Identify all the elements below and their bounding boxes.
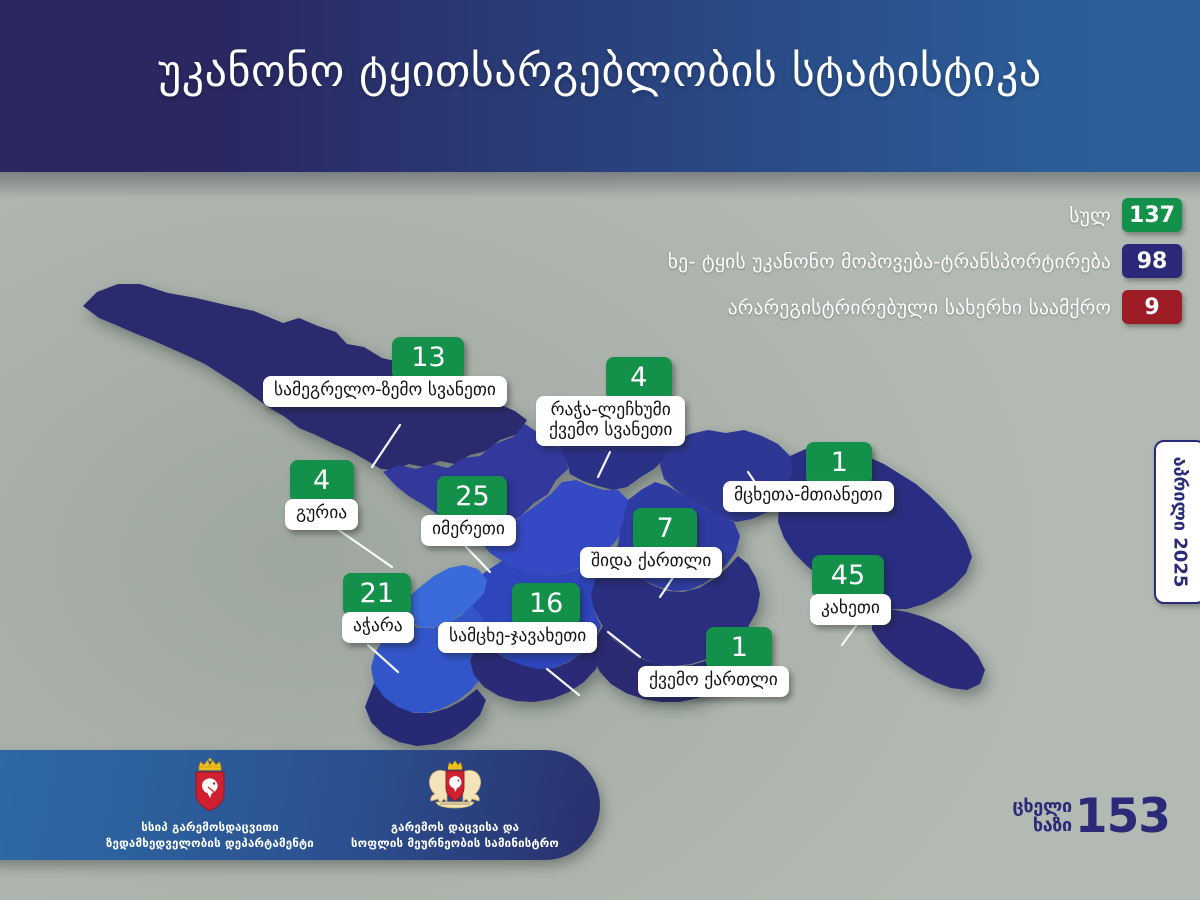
- leader-samegrelo: [372, 425, 400, 467]
- legend-chip-logging: 98: [1122, 244, 1182, 278]
- hotline-words: ცხელი ხაზი: [1012, 798, 1071, 835]
- legend-row-total: სულ 137: [668, 198, 1182, 232]
- callout-guria[interactable]: 4 გურია: [285, 460, 358, 530]
- badge-adjara: 21: [343, 573, 411, 616]
- label-kvemo-kartli: ქვემო ქართლი: [638, 666, 789, 697]
- legend-label-total: სულ: [1069, 204, 1111, 227]
- label-mtskheta: მცხეთა-მთიანეთი: [723, 481, 894, 512]
- department-emblem-icon: [187, 758, 233, 812]
- label-racha-line2: ქვემო სვანეთი: [549, 420, 672, 440]
- hotline: ცხელი ხაზი 153: [1012, 796, 1170, 838]
- callout-shida-kartli[interactable]: 7 შიდა ქართლი: [608, 508, 722, 578]
- badge-samtskhe: 16: [512, 583, 580, 626]
- header-banner: უკანონო ტყითსარგებლობის სტატისტიკა: [0, 0, 1200, 172]
- callout-imereti[interactable]: 25 იმერეთი: [429, 476, 516, 546]
- ministry-coat-of-arms-icon: [424, 758, 486, 812]
- footer-org-2: გარემოს დაცვისა და სოფლის მეურნეობის სამ…: [330, 758, 580, 851]
- badge-mtskheta: 1: [806, 442, 872, 485]
- legend-row-sawmill: არარეგისტრირებული სახერხი საამქრო 9: [668, 290, 1182, 324]
- label-guria: გურია: [285, 499, 358, 530]
- label-shida-kartli: შიდა ქართლი: [580, 547, 722, 578]
- callout-kakheti[interactable]: 45 კახეთი: [805, 555, 891, 625]
- badge-kvemo-kartli: 1: [706, 627, 772, 670]
- hotline-line-2: ხაზი: [1012, 817, 1071, 835]
- leader-kvemo-kartli: [608, 632, 640, 657]
- badge-shida-kartli: 7: [633, 508, 697, 551]
- legend-label-logging: ხე- ტყის უკანონო მოპოვება-ტრანსპორტირება: [668, 250, 1111, 273]
- label-samegrelo: სამეგრელო-ზემო სვანეთი: [263, 376, 507, 407]
- infographic-canvas: უკანონო ტყითსარგებლობის სტატისტიკა სულ 1…: [0, 0, 1200, 900]
- badge-racha: 4: [606, 357, 672, 400]
- label-racha-line1: რაჭა-ლეჩხუმი: [551, 400, 671, 420]
- date-tab: აპრილი 2025: [1154, 440, 1200, 604]
- label-kakheti: კახეთი: [810, 594, 891, 625]
- legend-chip-total: 137: [1122, 198, 1182, 232]
- callout-racha[interactable]: 4 რაჭა-ლეჩხუმი ქვემო სვანეთი: [592, 357, 685, 446]
- footer-banner: სსიპ გარემოსდაცვითი ზედამხედველობის დეპა…: [0, 750, 600, 860]
- badge-samegrelo: 13: [392, 337, 464, 380]
- callout-kvemo-kartli[interactable]: 1 ქვემო ქართლი: [690, 627, 789, 697]
- label-racha: რაჭა-ლეჩხუმი ქვემო სვანეთი: [536, 396, 685, 446]
- legend: სულ 137 ხე- ტყის უკანონო მოპოვება-ტრანსპ…: [668, 198, 1182, 336]
- badge-imereti: 25: [437, 476, 507, 519]
- callout-samtskhe[interactable]: 16 სამცხე-ჯავახეთი: [495, 583, 597, 653]
- leader-adjara: [368, 645, 398, 672]
- callout-mtskheta[interactable]: 1 მცხეთა-მთიანეთი: [785, 442, 894, 512]
- date-tab-label: აპრილი 2025: [1170, 457, 1191, 588]
- badge-kakheti: 45: [812, 555, 884, 598]
- page-title: უკანონო ტყითსარგებლობის სტატისტიკა: [0, 46, 1200, 97]
- leader-racha: [598, 452, 610, 477]
- legend-chip-sawmill: 9: [1122, 290, 1182, 324]
- label-samtskhe: სამცხე-ჯავახეთი: [438, 622, 597, 653]
- label-imereti: იმერეთი: [421, 515, 516, 546]
- legend-label-sawmill: არარეგისტრირებული სახერხი საამქრო: [728, 296, 1111, 319]
- leader-guria: [330, 524, 392, 567]
- hotline-number: 153: [1075, 796, 1170, 838]
- callout-samegrelo[interactable]: 13 სამეგრელო-ზემო სვანეთი: [350, 337, 507, 407]
- footer-org-1: სსიპ გარემოსდაცვითი ზედამხედველობის დეპა…: [100, 758, 320, 851]
- footer-org-1-caption: სსიპ გარემოსდაცვითი ზედამხედველობის დეპა…: [100, 820, 320, 851]
- legend-row-logging: ხე- ტყის უკანონო მოპოვება-ტრანსპორტირება…: [668, 244, 1182, 278]
- leader-samtskhe: [547, 669, 579, 695]
- label-adjara: აჭარა: [342, 612, 414, 643]
- badge-guria: 4: [290, 460, 354, 503]
- callout-adjara[interactable]: 21 აჭარა: [340, 573, 414, 643]
- footer-org-2-caption: გარემოს დაცვისა და სოფლის მეურნეობის სამ…: [330, 820, 580, 851]
